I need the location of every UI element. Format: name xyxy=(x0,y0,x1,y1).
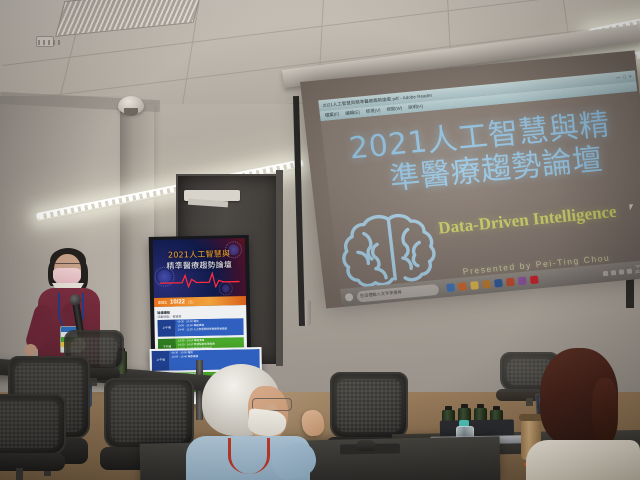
conference-room-photo: 2021人工智慧與精準醫療趨勢論壇.pdf - Adobe Reader — □… xyxy=(0,0,640,480)
attendee2-blazer xyxy=(526,440,640,480)
close-icon[interactable]: × xyxy=(629,74,632,79)
powerpoint-icon[interactable] xyxy=(506,278,515,287)
presenter-left-hand xyxy=(24,344,37,356)
menu-item-view[interactable]: 檢視(V) xyxy=(366,108,381,115)
ceiling-sensor-vents xyxy=(38,40,60,45)
agenda-subtitle: 活動地點：會議室 xyxy=(157,314,181,319)
event-poster-banner: 2021人工智慧與 精準醫療趨勢論壇 xyxy=(153,238,246,298)
agenda-row-body: 09:30 - 10:00 報到 10:00 - 10:40 專題演講 10:4… xyxy=(175,318,243,336)
poster-display-stand: 2021人工智慧與 精準醫療趨勢論壇 2021 10/22 (五) 論壇議程 活… xyxy=(149,235,252,363)
network-icon[interactable] xyxy=(611,270,617,275)
window-controls[interactable]: — □ × xyxy=(615,74,631,80)
mouse-cursor-icon xyxy=(629,204,637,211)
chevron-up-icon[interactable] xyxy=(603,270,609,275)
ime-icon[interactable] xyxy=(627,268,633,273)
start-button-icon[interactable] xyxy=(345,293,354,302)
audience-front-right xyxy=(520,348,640,480)
mail-icon[interactable] xyxy=(458,282,467,291)
agenda-row-morning: 上午場 09:30 - 10:00 報到 10:00 - 10:40 專題演講 … xyxy=(157,318,243,337)
menu-item-file[interactable]: 檔案(F) xyxy=(325,111,340,118)
computer-mouse[interactable] xyxy=(356,440,376,451)
menu-item-window[interactable]: 視窗(W) xyxy=(386,106,402,113)
presenter-face-mask xyxy=(53,268,81,285)
attendee2-hair xyxy=(540,348,618,446)
poster-date-year: 2021 xyxy=(158,300,167,305)
minimize-icon[interactable]: — xyxy=(615,75,620,80)
system-tray[interactable]: 下午 03:51 2021/10/22 xyxy=(602,264,640,278)
attendee-raised-hand xyxy=(300,409,325,438)
menu-item-edit[interactable]: 編輯(E) xyxy=(345,110,360,117)
agenda-line: 10:00 - 10:40 專題演講 xyxy=(172,354,258,359)
agenda-line: 10:40 - 11:20 人工智慧與精準醫療發展趨勢 xyxy=(178,327,242,332)
store-icon[interactable] xyxy=(482,280,491,289)
audience-front-left xyxy=(186,360,332,480)
poster-title-line2: 精準醫療趨勢論壇 xyxy=(153,259,245,272)
slide-title: 2021人工智慧與精 準醫療趨勢論壇 xyxy=(322,106,640,202)
word-icon[interactable] xyxy=(494,279,503,288)
smoke-detector-icon xyxy=(118,96,144,114)
browser-icon[interactable] xyxy=(446,283,455,292)
folder-icon[interactable] xyxy=(470,281,479,290)
poster-date-day: 10/22 xyxy=(170,299,185,305)
door-frame xyxy=(276,170,283,366)
taskbar-clock[interactable]: 下午 03:51 2021/10/22 xyxy=(634,264,640,275)
menu-item-help[interactable]: 說明(H) xyxy=(408,104,424,111)
volume-icon[interactable] xyxy=(619,269,625,274)
agenda-row-tag: 上午場 xyxy=(152,351,170,371)
search-placeholder: 在這裡輸入文字來搜尋 xyxy=(360,289,402,299)
taskbar-app-icons[interactable] xyxy=(446,275,539,292)
attendee-lanyard xyxy=(228,438,270,474)
projection-screen: 2021人工智慧與精準醫療趨勢論壇.pdf - Adobe Reader — □… xyxy=(300,50,640,308)
agenda-header-block: 論壇議程 活動地點：會議室 xyxy=(157,308,243,319)
slide-subtitle: Data-Driven Intelligence xyxy=(413,200,640,241)
pdf-slide: 2021人工智慧與精 準醫療趨勢論壇 Data-Driven Intellige… xyxy=(321,91,640,289)
clock-date: 2021/10/22 xyxy=(635,268,640,274)
poster-date-note: (五) xyxy=(188,299,194,304)
maximize-icon[interactable]: □ xyxy=(623,74,626,79)
adobe-reader-icon[interactable] xyxy=(530,275,539,284)
agenda-row-tag: 上午場 xyxy=(157,320,175,337)
chrome-icon[interactable] xyxy=(518,277,527,286)
office-chair-2[interactable] xyxy=(0,394,62,480)
ekg-line-icon xyxy=(159,271,239,289)
